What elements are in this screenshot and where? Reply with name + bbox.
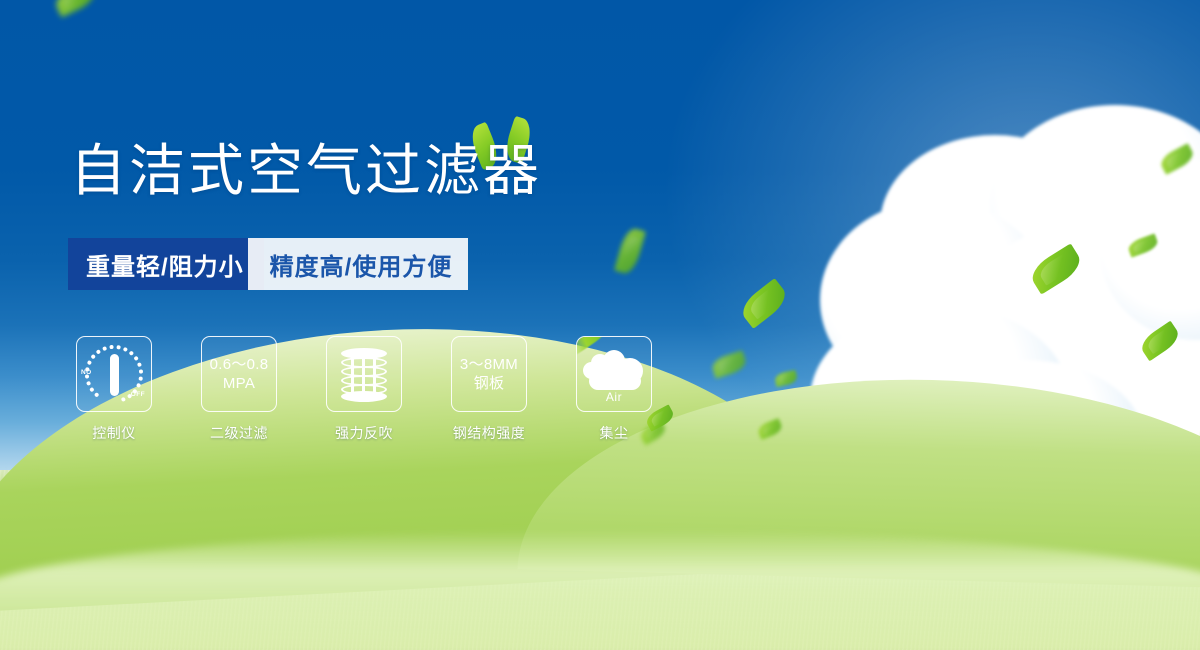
feature-item-dust-collection[interactable]: Air 集尘 — [576, 336, 652, 443]
dial-label-off: OFF — [131, 391, 145, 398]
feature-label: 强力反吹 — [326, 423, 402, 443]
steel-line-2: 钢板 — [460, 374, 518, 393]
steel-line-1: 3～8MM — [460, 355, 518, 374]
feature-label: 集尘 — [576, 423, 652, 443]
cloud-air-icon: Air — [583, 346, 645, 402]
pressure-line-2: MPA — [210, 374, 269, 393]
steel-text-icon: 3～8MM 钢板 — [460, 355, 518, 393]
feature-icon-box: 0.6～0.8 MPA — [201, 336, 277, 412]
feature-label: 控制仪 — [76, 423, 152, 443]
page-title: 自洁式空气过滤器 — [70, 143, 542, 199]
feature-item-controller[interactable]: NO OFF 控制仪 — [76, 336, 152, 443]
subtitle-left: 重量轻/阻力小 — [68, 238, 264, 290]
filter-cartridge-icon — [338, 346, 390, 402]
feature-list: NO OFF 控制仪 0.6～0.8 MPA 二级过滤 — [76, 336, 652, 443]
product-banner: 自洁式空气过滤器 重量轻/阻力小 精度高/使用方便 — [0, 0, 1200, 650]
feature-icon-box — [326, 336, 402, 412]
subtitle-right: 精度高/使用方便 — [248, 238, 469, 290]
feature-icon-box: 3～8MM 钢板 — [451, 336, 527, 412]
feature-label: 钢结构强度 — [439, 423, 539, 443]
feature-item-two-stage-filter[interactable]: 0.6～0.8 MPA 二级过滤 — [201, 336, 277, 443]
dial-label-on: NO — [81, 369, 92, 376]
subtitle-bar: 重量轻/阻力小 精度高/使用方便 — [68, 238, 464, 290]
air-label: Air — [583, 390, 645, 404]
grass-path — [0, 530, 1200, 650]
feature-item-strong-backblow[interactable]: 强力反吹 — [326, 336, 402, 443]
dial-icon: NO OFF — [78, 338, 150, 410]
dial-pointer — [110, 354, 119, 396]
feature-icon-box: Air — [576, 336, 652, 412]
feature-icon-box: NO OFF — [76, 336, 152, 412]
feature-label: 二级过滤 — [201, 423, 277, 443]
feature-item-steel-strength[interactable]: 3～8MM 钢板 钢结构强度 — [451, 336, 527, 443]
pressure-text-icon: 0.6～0.8 MPA — [210, 355, 269, 393]
pressure-line-1: 0.6～0.8 — [210, 355, 269, 374]
